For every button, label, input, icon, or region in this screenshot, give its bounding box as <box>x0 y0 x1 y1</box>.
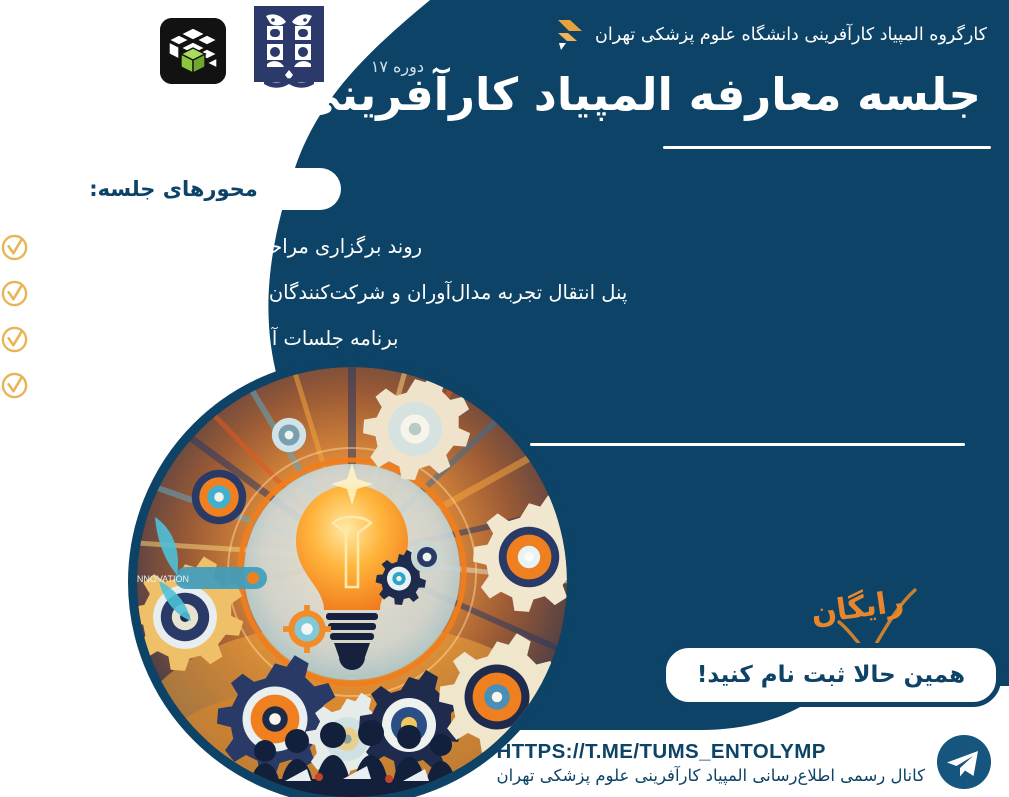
organization-line: کارگروه المپیاد کارآفرینی دانشگاه علوم پ… <box>555 18 987 52</box>
footer-text-group: HTTPS://T.ME/TUMS_ENTOLYMP کانال رسمی اط… <box>496 740 925 785</box>
poster-root: کارگروه المپیاد کارآفرینی دانشگاه علوم پ… <box>0 0 1009 797</box>
check-circle-icon <box>1 280 28 307</box>
footer-telegram[interactable]: HTTPS://T.ME/TUMS_ENTOLYMP کانال رسمی اط… <box>496 735 991 789</box>
divider-middle <box>530 443 965 446</box>
page-title: جلسه معارفه المپیاد کارآفرینی <box>295 68 981 121</box>
list-item: پنل انتقال تجربه مدال‌آوران و شرکت‌کنندگ… <box>1 280 991 307</box>
register-now-button[interactable]: همین حالا ثبت نام کنید! <box>661 643 1001 707</box>
idea-gears-teamwork-illustration: INNOVATION <box>128 358 576 797</box>
divider-top <box>663 146 991 149</box>
list-item: برنامه جلسات آمادگی برای شرکت در المپیاد <box>1 326 991 353</box>
telegram-icon[interactable] <box>937 735 991 789</box>
chevron-brand-icon <box>555 18 585 52</box>
telegram-url[interactable]: HTTPS://T.ME/TUMS_ENTOLYMP <box>496 740 825 764</box>
check-circle-icon <box>1 372 28 399</box>
topic-label: برنامه جلسات آمادگی برای شرکت در المپیاد <box>37 327 398 351</box>
illustration-canvas: INNOVATION <box>137 367 567 797</box>
telegram-description: کانال رسمی اطلاع‌رسانی المپیاد کارآفرینی… <box>496 766 925 785</box>
cube-logo <box>160 18 226 84</box>
topic-label: روند برگزاری مراحل المپیاد و آشنایی با ت… <box>37 235 422 259</box>
topics-heading-label: محورهای جلسه: <box>89 177 258 201</box>
check-circle-icon <box>1 234 28 261</box>
topic-label: پنل انتقال تجربه مدال‌آوران و شرکت‌کنندگ… <box>37 281 627 305</box>
svg-text:INNOVATION: INNOVATION <box>137 574 189 584</box>
topics-heading-pill: محورهای جلسه: <box>6 168 341 210</box>
check-circle-icon <box>1 326 28 353</box>
register-now-label: همین حالا ثبت نام کنید! <box>697 662 965 688</box>
list-item: روند برگزاری مراحل المپیاد و آشنایی با ت… <box>1 234 991 261</box>
organization-label: کارگروه المپیاد کارآفرینی دانشگاه علوم پ… <box>595 25 987 45</box>
